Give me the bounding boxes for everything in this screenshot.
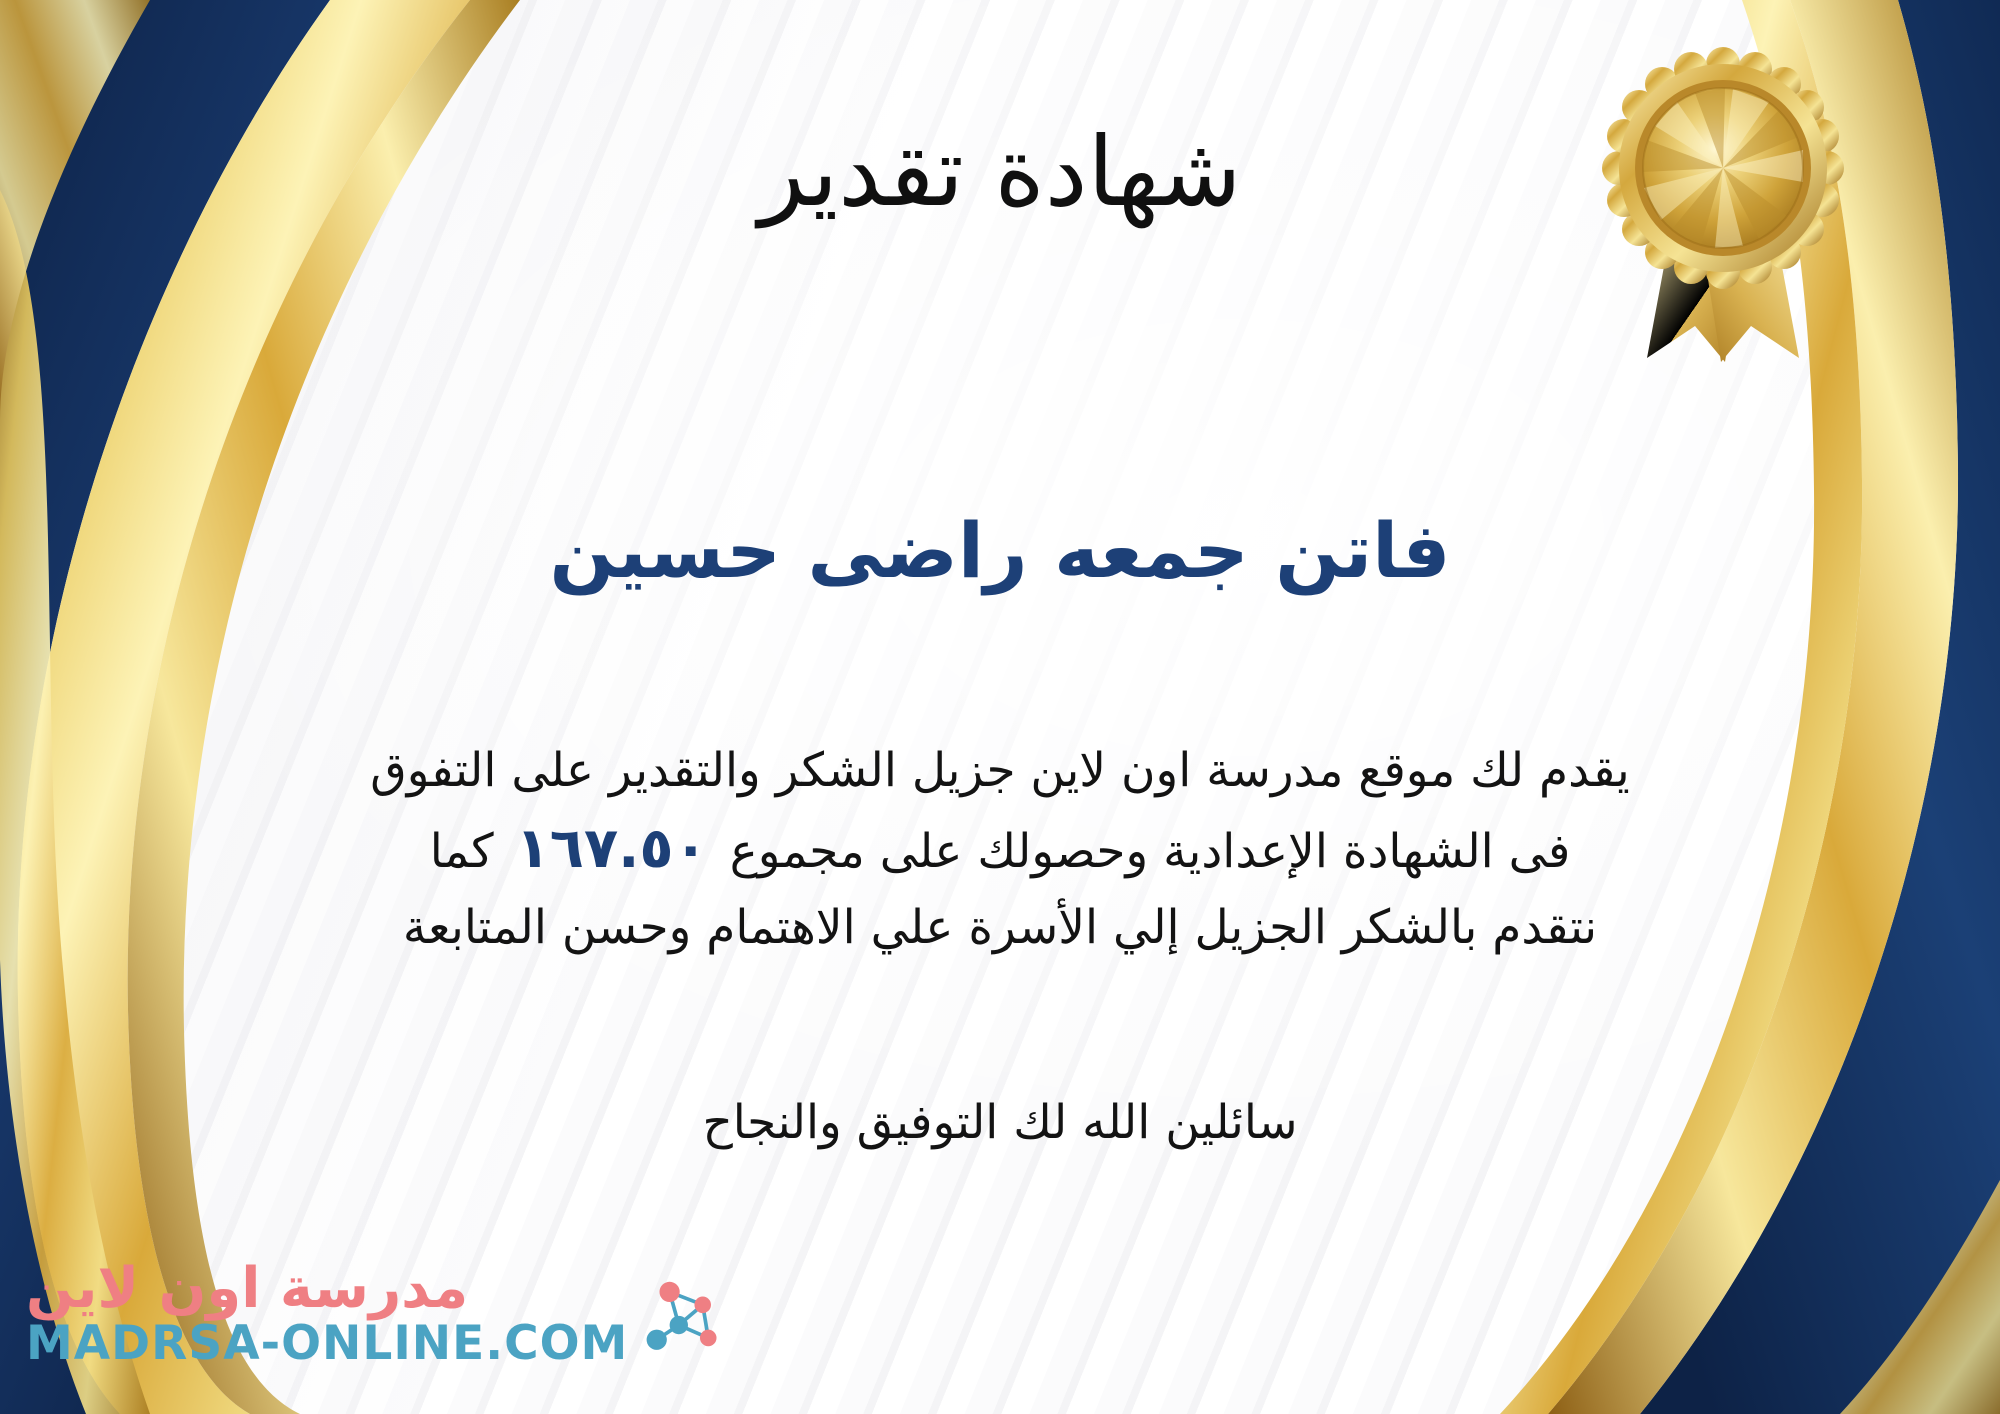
- brand-website: MADRSA-ONLINE.COM: [26, 1319, 628, 1368]
- closing-line: سائلين الله لك التوفيق والنجاح: [0, 1095, 2000, 1150]
- certificate-body: يقدم لك موقع مدرسة اون لاين جزيل الشكر و…: [60, 735, 1940, 963]
- body-line-1: يقدم لك موقع مدرسة اون لاين جزيل الشكر و…: [60, 735, 1940, 806]
- body-line-2-suffix: كما: [430, 824, 494, 879]
- page-title: شهادة تقدير: [0, 112, 2000, 232]
- body-line-2: فى الشهادة الإعدادية وحصولك على مجموع١٦٧…: [60, 806, 1940, 891]
- network-nodes-icon: [642, 1268, 734, 1360]
- total-score-value: ١٦٧.٥٠: [494, 816, 730, 881]
- body-line-3: نتقدم بالشكر الجزيل إلي الأسرة علي الاهت…: [60, 892, 1940, 963]
- body-line-2-prefix: فى الشهادة الإعدادية وحصولك على مجموع: [730, 824, 1571, 879]
- brand-logo[interactable]: مدرسة اون لاين MADRSA-ONLINE.COM: [26, 1260, 734, 1368]
- recipient-name: فاتن جمعه راضى حسين: [0, 500, 2000, 603]
- brand-text-group: مدرسة اون لاين MADRSA-ONLINE.COM: [26, 1260, 628, 1368]
- brand-arabic-name: مدرسة اون لاين: [26, 1260, 468, 1319]
- certificate-canvas: شهادة تقدير فاتن جمعه راضى حسين يقدم لك …: [0, 0, 2000, 1414]
- certificate-content: شهادة تقدير فاتن جمعه راضى حسين يقدم لك …: [0, 0, 2000, 1414]
